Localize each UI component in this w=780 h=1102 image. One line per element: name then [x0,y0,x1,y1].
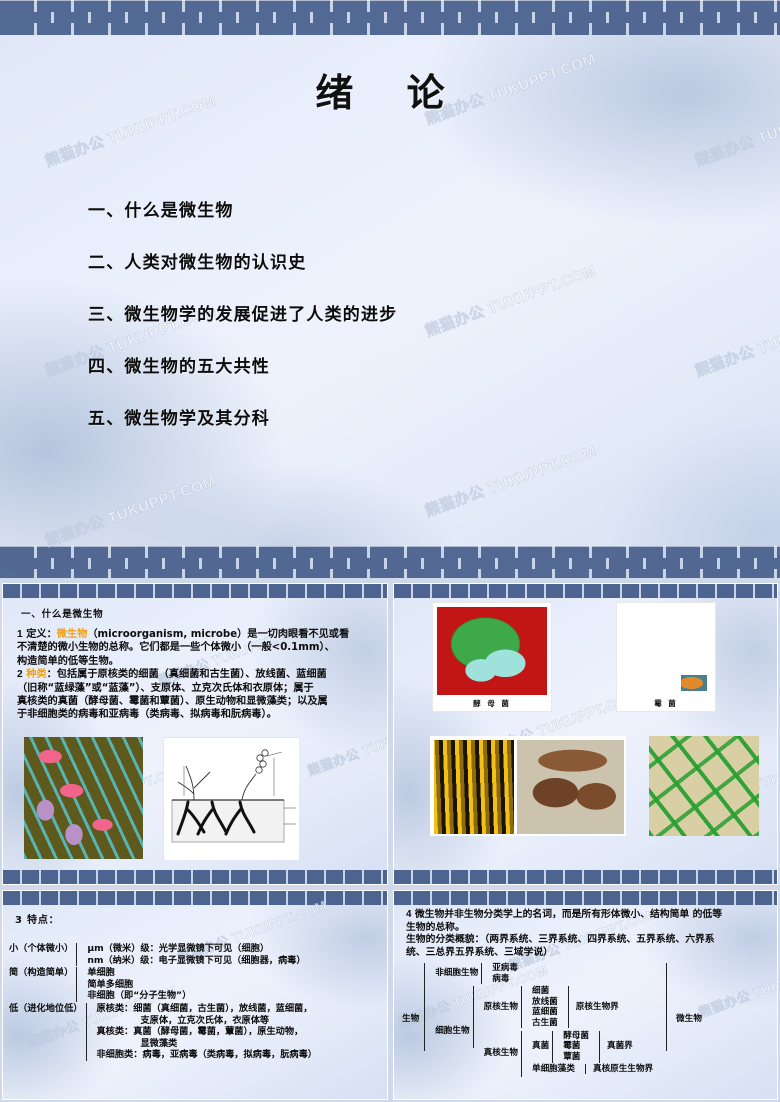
watermark: 熊猫办公 TUKUPPT.COM [422,440,599,521]
image-card-yeast: 酵 母 菌 [432,602,552,712]
brace-icon [521,986,529,1028]
image-bacteria [24,737,143,859]
simple-item-3: 非细胞（即“分子生物”） [87,990,191,1002]
small-item-2: nm（纳米）级：电子显微镜下可见（细胞器，病毒） [87,955,305,967]
tree-prokaryote-item-3: 蓝细菌 [532,1007,558,1018]
classification-number: 4 [406,909,411,920]
brace-icon-outer [659,963,667,1051]
tree-prokaryote-item-4: 古生菌 [532,1018,558,1029]
brick-band-top [3,584,387,598]
kind-number: 2 [17,669,23,680]
toc-item-4[interactable]: 四、微生物的五大共性 [88,352,397,377]
brick-band-bottom [0,546,780,578]
classification-para-line-2: 生物的总称。 [406,922,772,935]
characteristic-group-low: 低（进化地位低） 原核类：细菌（真细菌，古生菌），放线菌，蓝细菌， 支原体，立克… [9,1003,383,1061]
tree-algae: 单细胞藻类 [532,1064,575,1075]
small-item-1: μm（微米）级：光学显微镜下可见（细胞） [87,943,305,955]
definition-body-1: （microorganism, microbe）是一切肉眼看不见或看 [87,629,349,640]
slide-what-is-microbe: 熊猫办公 TUKUPPT.COM 熊猫办公 TUKUPPT.COM 熊猫办公 T… [2,583,388,885]
image-mushroom-yellow [434,740,514,834]
brick-band-top [394,584,777,598]
low-item-4: 显微藻类 [97,1038,318,1050]
brick-band-bottom [3,870,387,884]
slide-classification: 熊猫办公 TUKUPPT.COM 熊猫办公 TUKUPPT.COM 熊猫办公 T… [393,890,778,1100]
low-item-2: 支原体，立克次氏体，衣原体等 [97,1015,318,1027]
brace-icon [76,967,84,1002]
kind-line-4: 于非细胞类的病毒和亚病毒（类病毒、拟病毒和朊病毒）。 [17,708,381,721]
kind-line-1: 2 种类：包括属于原核类的细菌（真细菌和古生菌）、放线菌、蓝细菌 [17,668,381,681]
classification-para-line-4: 统、三总界五界系统、三域学说） [406,947,772,960]
tree-acellular-item-1: 亚病毒 [492,963,518,974]
image-mold-inset [681,675,707,691]
slide-characteristics: 熊猫办公 TUKUPPT.COM 熊猫办公 TUKUPPT.COM 3 特点： … [2,890,388,1100]
characteristic-group-simple: 简（构造简单） 单细胞 简单多细胞 非细胞（即“分子生物”） [9,967,383,1002]
kind-keyword: 种类 [26,669,46,680]
page-title: 绪 论 [0,62,780,117]
kind-line-2: （旧称“蓝绿藻”或“蓝藻”）、支原体、立克次氏体和衣原体；属于 [17,682,381,695]
watermark: 熊猫办公 TUKUPPT.COM [42,470,219,551]
actinomycete-svg [164,738,299,860]
tree-cellular: 细胞生物 [435,1026,469,1037]
brace-icon [521,1031,529,1077]
brace-icon-root [424,963,432,1051]
image-actinomycete-diagram [163,737,298,859]
brace-icon [86,1003,94,1061]
low-item-3: 真核类：真菌（酵母菌，霉菌，蕈菌），原生动物， [97,1026,318,1038]
image-yeast [437,607,547,695]
tree-fungi-kingdom: 真菌界 [603,1041,633,1052]
simple-item-2: 简单多细胞 [87,979,191,991]
tree-fungi: 真菌 [532,1041,549,1052]
tree-microbe: 微生物 [670,1014,702,1025]
tree-prokaryote-item-2: 放线菌 [532,997,558,1008]
toc-item-3[interactable]: 三、微生物学的发展促进了人类的进步 [88,300,397,325]
watermark: 熊猫办公 TUKUPPT.COM [422,260,599,341]
caption-yeast: 酵 母 菌 [433,698,551,709]
tree-prokaryote: 原核生物 [484,1002,518,1013]
brick-band-bottom [394,870,777,884]
definition-label: 定义： [26,629,57,640]
low-item-1: 原核类：细菌（真细菌，古生菌），放线菌，蓝细菌， [97,1003,318,1015]
brace-icon [473,986,481,1048]
definition-keyword: 微生物 [57,629,88,640]
tree-fungi-item-1: 酵母菌 [563,1031,589,1042]
brace-icon [552,1031,560,1063]
table-of-contents: 一、什么是微生物 二、人类对微生物的认识史 三、微生物学的发展促进了人类的进步 … [88,196,397,456]
definition-line-1: 1 定义：微生物（microorganism, microbe）是一切肉眼看不见… [17,628,381,641]
tree-root: 生物 [402,1014,421,1025]
definition-line-2: 不清楚的微小生物的总称。它们都是一些个体微小（一般<0.1mm）、 [17,641,381,654]
kind-body-1: ：包括属于原核类的细菌（真细菌和古生菌）、放线菌、蓝细菌 [47,669,327,680]
slide-fungi-gallery: 熊猫办公 TUKUPPT.COM 熊猫办公 TUKUPPT.COM 酵 母 菌 … [393,583,778,885]
tree-prokaryote-kingdom: 原核生物界 [572,1002,619,1013]
image-card-mushrooms [430,736,626,836]
brace-icon [481,963,489,984]
brick-band-top [394,891,777,905]
characteristics-heading: 3 特点： [15,911,59,926]
group-label-simple: 简（构造简单） [9,967,73,979]
toc-item-5[interactable]: 五、微生物学及其分科 [88,404,397,429]
brace-icon [561,986,569,1028]
brick-band-top [0,0,780,35]
group-label-small: 小（个体微小） [9,943,73,955]
classification-para-line-1: 4 微生物并非生物分类学上的名词，而是所有形体微小、结构简单 的低等 [406,909,772,922]
image-card-mold: 霉 菌 [616,602,716,712]
caption-mold: 霉 菌 [617,698,715,709]
tree-fungi-item-3: 蕈菌 [563,1052,589,1063]
brace-icon [592,1031,600,1063]
classification-text-1: 微生物并非生物分类学上的名词，而是所有形体微小、结构简单 的低等 [415,909,722,920]
toc-item-2[interactable]: 二、人类对微生物的认识史 [88,248,397,273]
characteristic-group-small: 小（个体微小） μm（微米）级：光学显微镜下可见（细胞） nm（纳米）级：电子显… [9,943,383,966]
tree-protist-kingdom: 真核原生生物界 [589,1064,653,1075]
brace-icon [578,1064,586,1074]
tree-eukaryote: 真核生物 [484,1048,518,1059]
image-algae [649,736,759,836]
image-mushroom-brown [517,740,624,834]
classification-tree: 生物 非细胞生物 亚病毒 病毒 细胞生物 [402,963,774,1077]
tree-prokaryote-item-1: 细菌 [532,986,558,997]
tree-fungi-item-2: 霉菌 [563,1041,589,1052]
kind-line-3: 真核类的真菌（酵母菌、霉菌和蕈菌）、原生动物和显微藻类；以及属 [17,695,381,708]
slide-title: 熊猫办公 TUKUPPT.COM 熊猫办公 TUKUPPT.COM 熊猫办公 T… [0,0,780,578]
toc-item-1[interactable]: 一、什么是微生物 [88,196,397,221]
tree-acellular: 非细胞生物 [435,968,478,979]
section-heading: 一、什么是微生物 [21,606,103,620]
watermark: 熊猫办公 TUKUPPT.COM [692,300,780,381]
low-item-5: 非细胞类：病毒，亚病毒（类病毒，拟病毒，朊病毒） [97,1049,318,1061]
simple-item-1: 单细胞 [87,967,191,979]
brace-icon [76,943,84,966]
tree-acellular-item-2: 病毒 [492,974,518,985]
group-label-low: 低（进化地位低） [9,1003,83,1015]
definition-number: 1 [17,629,23,640]
image-mold [621,607,711,695]
brick-band-top [3,891,387,905]
definition-line-3: 构造简单的低等生物。 [17,655,381,668]
classification-para-line-3: 生物的分类概貌：（两界系统、三界系统、四界系统、五界系统、六界系 [406,934,772,947]
